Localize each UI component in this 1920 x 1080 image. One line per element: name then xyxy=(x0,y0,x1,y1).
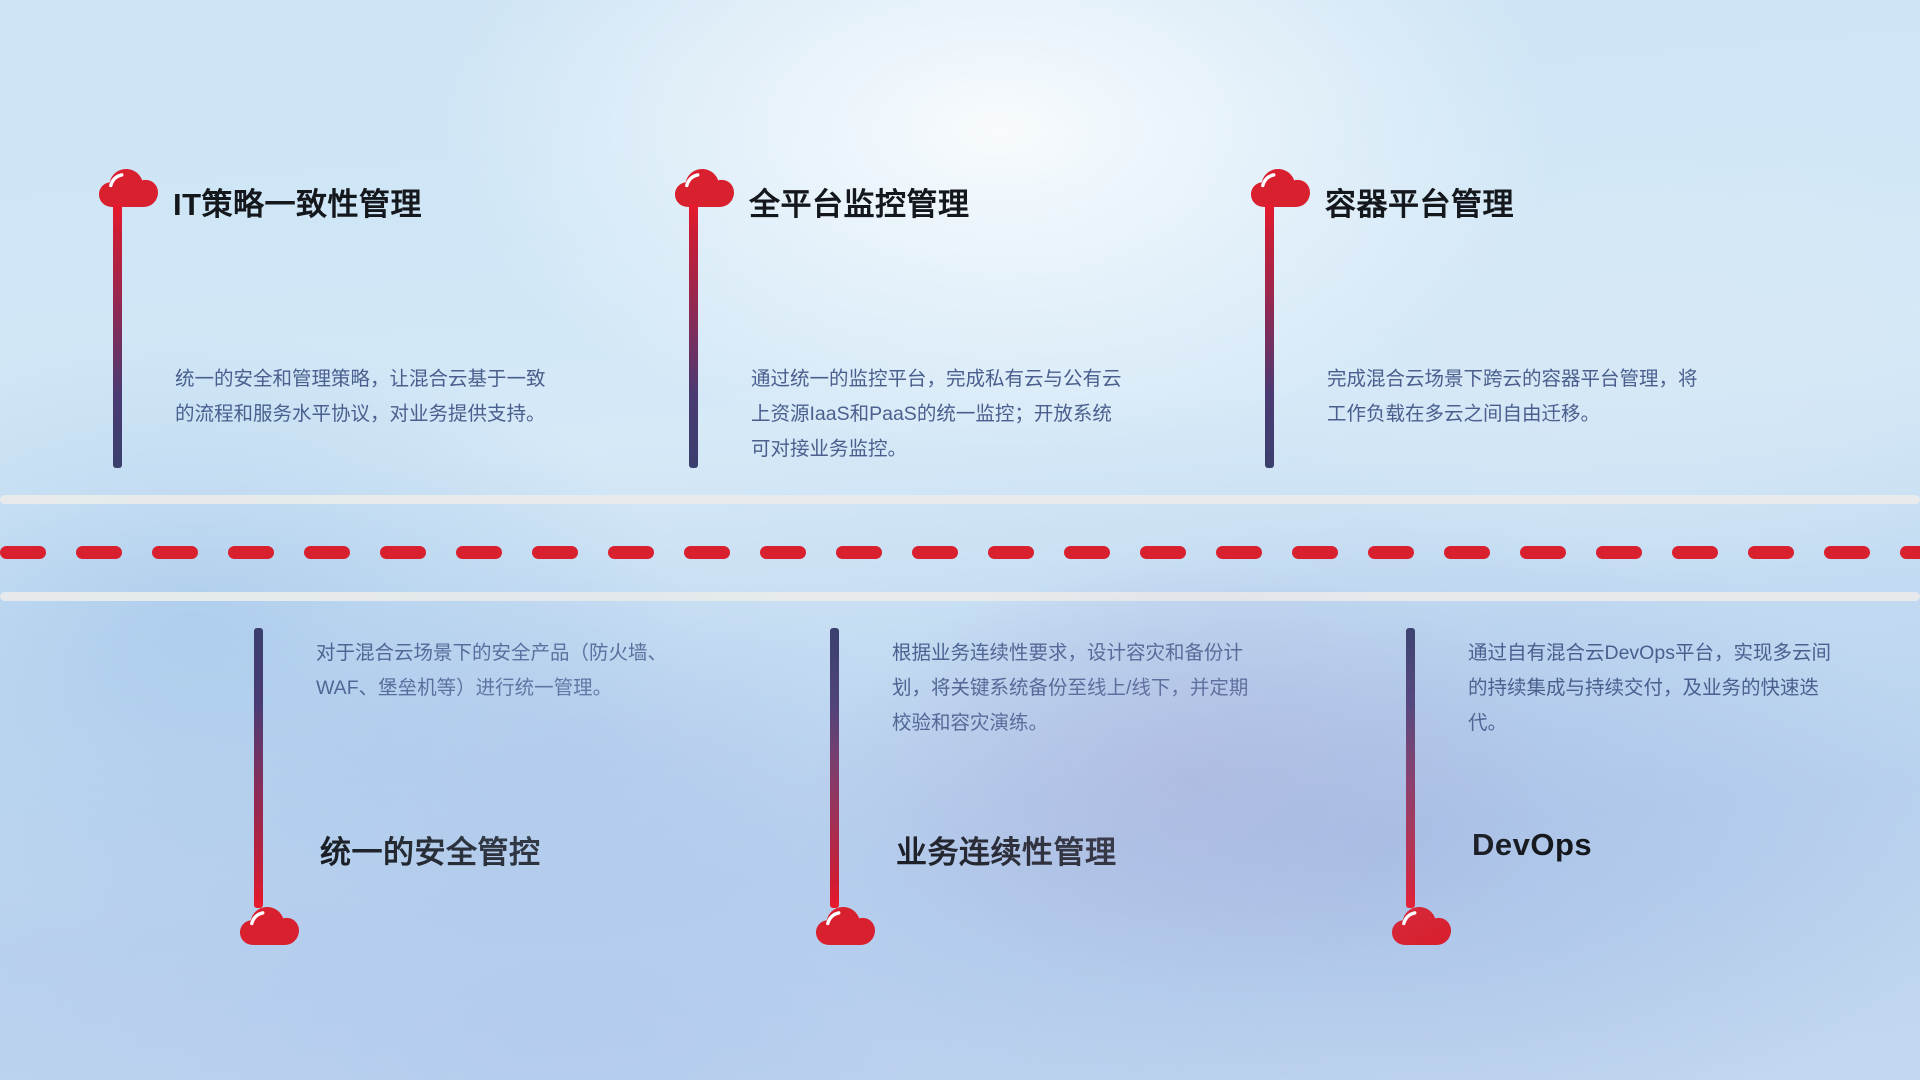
divider-dash xyxy=(1444,546,1490,559)
divider-dash xyxy=(684,546,730,559)
cloud-icon xyxy=(813,903,877,947)
connector-business-continuity xyxy=(813,903,877,947)
divider-dash xyxy=(608,546,654,559)
bar-container-platform xyxy=(1265,204,1274,468)
cloud-icon xyxy=(96,165,160,209)
connector-devops xyxy=(1389,903,1453,947)
divider-dash xyxy=(380,546,426,559)
cloud-icon xyxy=(237,903,301,947)
divider-dash xyxy=(1748,546,1794,559)
divider-dash xyxy=(836,546,882,559)
divider-dash xyxy=(760,546,806,559)
headline-it-policy-consistency: IT策略一致性管理 xyxy=(173,179,422,224)
headline-unified-security: 统一的安全管控 xyxy=(320,827,541,872)
body-container-platform: 完成混合云场景下跨云的容器平台管理，将工作负载在多云之间自由迁移。 xyxy=(1327,362,1699,432)
divider-dash xyxy=(456,546,502,559)
infographic-canvas: IT策略一致性管理 统一的安全和管理策略，让混合云基于一致的流程和服务水平协议，… xyxy=(0,0,1920,1080)
headline-full-platform-monitoring: 全平台监控管理 xyxy=(749,179,970,224)
body-devops: 通过自有混合云DevOps平台，实现多云间的持续集成与持续交付，及业务的快速迭代… xyxy=(1468,636,1840,741)
divider-dash xyxy=(152,546,198,559)
bar-business-continuity xyxy=(830,628,839,908)
divider-dash xyxy=(1672,546,1718,559)
divider-dash xyxy=(228,546,274,559)
divider-dash xyxy=(76,546,122,559)
divider-dash xyxy=(912,546,958,559)
divider-dash xyxy=(0,546,46,559)
connector-container-platform xyxy=(1248,165,1312,209)
divider-dashed xyxy=(0,546,1920,559)
cloud-icon xyxy=(1248,165,1312,209)
headline-business-continuity: 业务连续性管理 xyxy=(896,827,1117,872)
bar-devops xyxy=(1406,628,1415,908)
divider-rule-upper xyxy=(0,495,1920,504)
divider-dash xyxy=(1216,546,1262,559)
connector-unified-security xyxy=(237,903,301,947)
divider-dash xyxy=(1596,546,1642,559)
bar-full-platform-monitoring xyxy=(689,204,698,468)
divider-dash xyxy=(1064,546,1110,559)
divider-dash xyxy=(1140,546,1186,559)
divider-dash xyxy=(1900,546,1920,559)
body-full-platform-monitoring: 通过统一的监控平台，完成私有云与公有云上资源IaaS和PaaS的统一监控；开放系… xyxy=(751,362,1123,467)
divider-dash xyxy=(1520,546,1566,559)
divider-dash xyxy=(1292,546,1338,559)
divider-dash xyxy=(988,546,1034,559)
divider-dash xyxy=(1824,546,1870,559)
divider-dash xyxy=(304,546,350,559)
divider-dash xyxy=(1368,546,1414,559)
connector-it-policy-consistency xyxy=(96,165,160,209)
headline-container-platform: 容器平台管理 xyxy=(1325,179,1514,224)
divider-dash xyxy=(532,546,578,559)
body-unified-security: 对于混合云场景下的安全产品（防火墙、WAF、堡垒机等）进行统一管理。 xyxy=(316,636,688,706)
bar-unified-security xyxy=(254,628,263,908)
bar-it-policy-consistency xyxy=(113,204,122,468)
body-business-continuity: 根据业务连续性要求，设计容灾和备份计划，将关键系统备份至线上/线下，并定期校验和… xyxy=(892,636,1264,741)
divider-rule-lower xyxy=(0,592,1920,601)
cloud-icon xyxy=(672,165,736,209)
headline-devops: DevOps xyxy=(1472,827,1592,863)
connector-full-platform-monitoring xyxy=(672,165,736,209)
cloud-icon xyxy=(1389,903,1453,947)
body-it-policy-consistency: 统一的安全和管理策略，让混合云基于一致的流程和服务水平协议，对业务提供支持。 xyxy=(175,362,547,432)
